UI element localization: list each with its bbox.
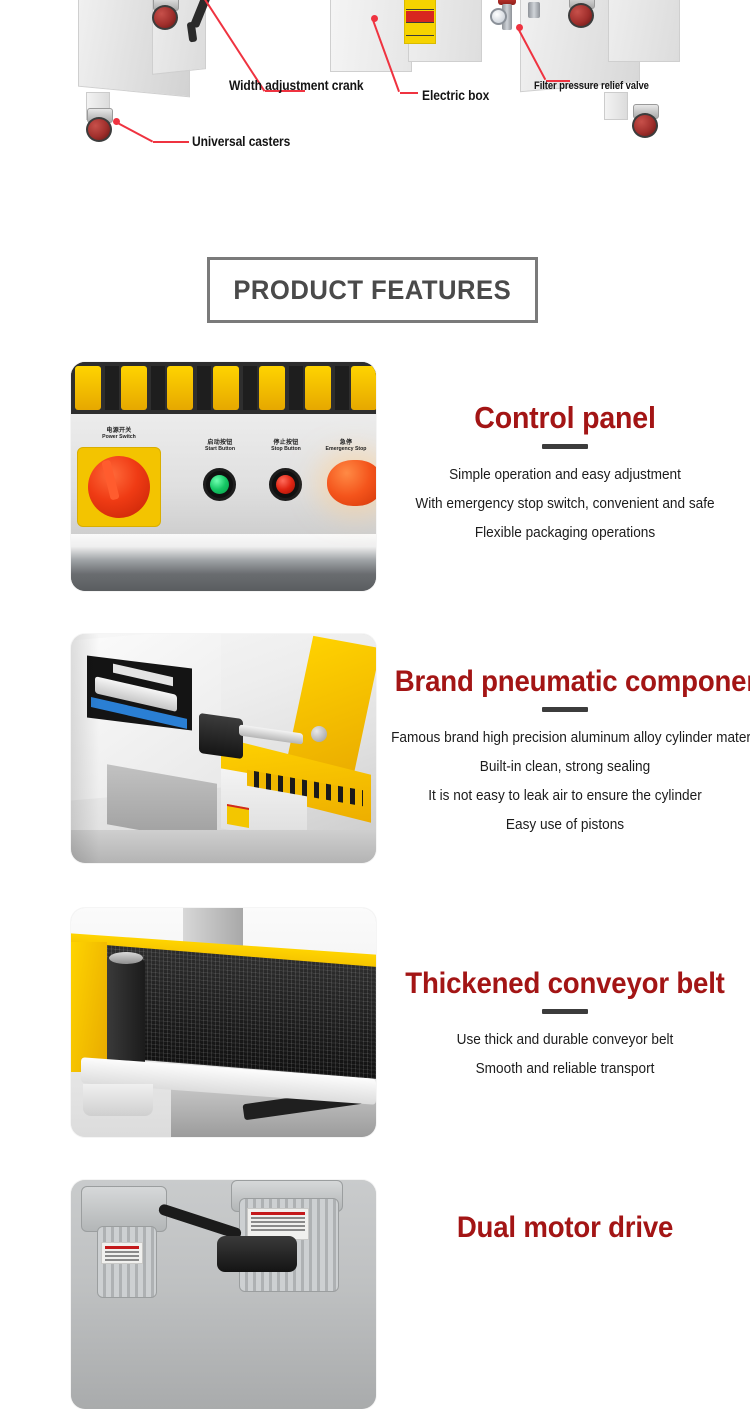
start-button-label: 启动按钮 Start Button	[189, 440, 251, 453]
pressure-gauge-icon	[490, 8, 507, 25]
feature-line: With emergency stop switch, convenient a…	[391, 490, 739, 519]
dual-motor-text-column: Dual motor drive	[380, 1212, 750, 1244]
control-panel-text-column: Control panel Simple operation and easy …	[380, 402, 750, 548]
machine-foot-right	[604, 92, 628, 120]
dual-motor-photo	[71, 1180, 376, 1409]
feature-title-brand-pneumatic-components: Brand pneumatic components	[395, 666, 735, 698]
feature-line: Simple operation and easy adjustment	[391, 461, 739, 490]
filter-regulator-valve	[528, 2, 540, 18]
machine-electric-box	[330, 0, 412, 72]
control-panel-top-slats	[71, 362, 376, 414]
callout-line2-universal-casters	[153, 141, 189, 143]
feature-line: It is not easy to leak air to ensure the…	[391, 782, 739, 811]
callout-line-universal-casters	[115, 121, 153, 142]
conveyor-belt-photo	[71, 908, 376, 1137]
pneumatic-text-column: Brand pneumatic components Famous brand …	[380, 666, 750, 840]
feature-title-control-panel: Control panel	[395, 402, 735, 435]
emergency-stop-label: 急停 Emergency Stop	[315, 440, 376, 453]
caster-rear-right	[566, 0, 596, 28]
feature-divider-control-panel	[542, 444, 588, 449]
feature-line: Flexible packaging operations	[391, 519, 739, 548]
power-switch-control[interactable]	[77, 447, 161, 527]
product-features-banner: PRODUCT FEATURES	[207, 257, 538, 323]
power-switch-label: 电源开关 Power Switch	[89, 428, 149, 441]
callout-label-width-adjustment-crank: Width adjustment crank	[229, 77, 363, 93]
callout-label-electric-box: Electric box	[422, 87, 489, 103]
pneumatic-cylinder	[199, 713, 243, 759]
stop-button[interactable]	[269, 468, 302, 501]
start-button[interactable]	[203, 468, 236, 501]
callout-label-filter-pressure-relief-valve: Filter pressure relief valve	[534, 80, 649, 92]
control-panel-photo: 电源开关 Power Switch 启动按钮 Start Button 停止按钮…	[71, 362, 376, 591]
feature-line: Built-in clean, strong sealing	[391, 753, 739, 782]
warning-label-icon	[404, 0, 436, 44]
feature-divider-brand-pneumatic-components	[542, 707, 588, 712]
feature-line: Famous brand high precision aluminum all…	[391, 724, 739, 753]
caster-rear-left	[150, 0, 180, 30]
pneumatic-components-photo	[71, 634, 376, 863]
callout-label-universal-casters: Universal casters	[192, 133, 290, 149]
motor-nameplate-left	[101, 1242, 143, 1264]
conveyor-belt-surface	[107, 945, 376, 1079]
feature-title-dual-motor-drive: Dual motor drive	[395, 1212, 735, 1244]
stop-button-label: 停止按钮 Stop Button	[255, 440, 317, 453]
feature-title-thickened-conveyor-belt: Thickened conveyor belt	[395, 968, 735, 1000]
emergency-stop-button[interactable]	[327, 460, 376, 506]
product-features-banner-inner: PRODUCT FEATURES	[213, 263, 532, 317]
machine-right-column	[608, 0, 680, 62]
conveyor-text-column: Thickened conveyor belt Use thick and du…	[380, 968, 750, 1084]
caster-front-right	[630, 104, 660, 138]
feature-divider-thickened-conveyor-belt	[542, 1009, 588, 1014]
motor-junction-box	[217, 1236, 297, 1272]
feature-line: Use thick and durable conveyor belt	[391, 1026, 739, 1055]
machine-photo: Universal casters Width adjustment crank…	[0, 0, 750, 160]
feature-line: Smooth and reliable transport	[391, 1055, 739, 1084]
feature-line: Easy use of pistons	[391, 811, 739, 840]
product-features-title: PRODUCT FEATURES	[234, 275, 512, 306]
callout-line2-electric-box	[400, 92, 418, 94]
caster-front-left	[84, 108, 114, 142]
